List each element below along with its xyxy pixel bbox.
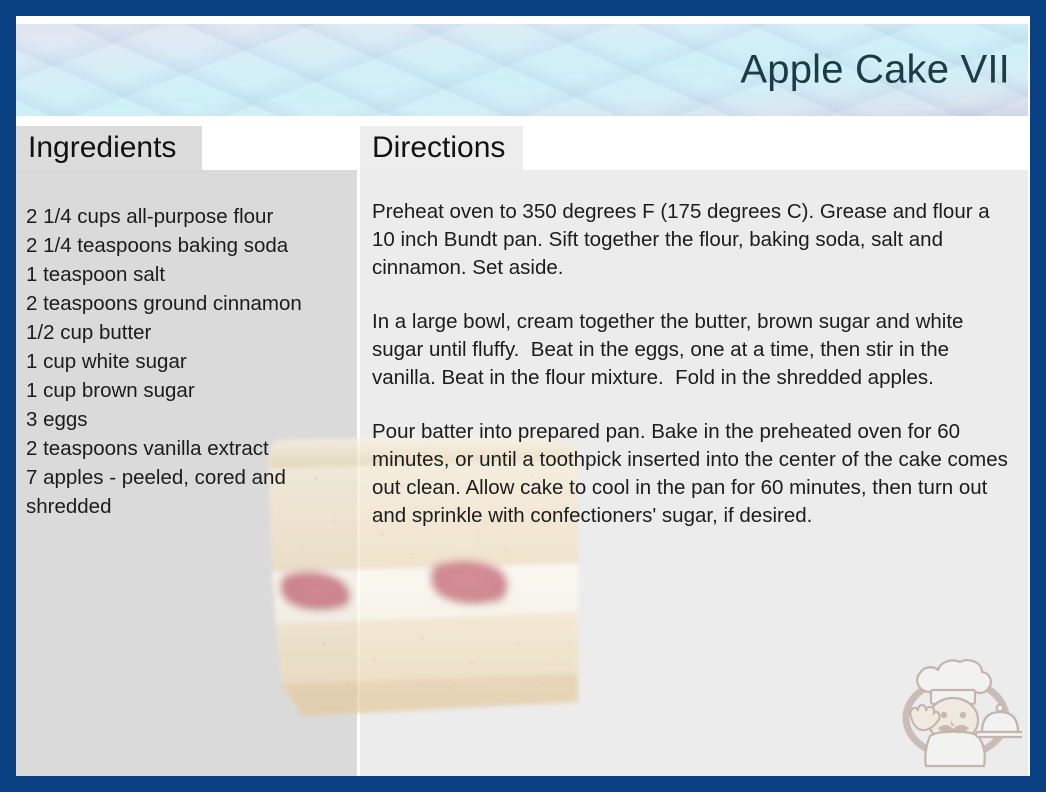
list-item: 1/2 cup butter bbox=[26, 318, 347, 347]
list-item: 1 cup white sugar bbox=[26, 347, 347, 376]
list-item: 2 teaspoons vanilla extract bbox=[26, 434, 347, 463]
list-item: 7 apples - peeled, cored and shredded bbox=[26, 463, 347, 521]
ingredients-panel: 2 1/4 cups all-purpose flour 2 1/4 teasp… bbox=[16, 170, 357, 776]
card-inner-surface: Apple Cake VII Ingredients Directions 2 … bbox=[16, 16, 1030, 776]
direction-paragraph: In a large bowl, cream together the butt… bbox=[372, 308, 1012, 392]
list-item: 2 1/4 teaspoons baking soda bbox=[26, 231, 347, 260]
ingredients-section-tab: Ingredients bbox=[16, 126, 202, 170]
list-item: 1 teaspoon salt bbox=[26, 260, 347, 289]
title-banner: Apple Cake VII bbox=[16, 24, 1028, 116]
list-item: 3 eggs bbox=[26, 405, 347, 434]
list-item: 2 1/4 cups all-purpose flour bbox=[26, 202, 347, 231]
list-item: 1 cup brown sugar bbox=[26, 376, 347, 405]
ingredients-heading: Ingredients bbox=[16, 133, 176, 163]
list-item: 2 teaspoons ground cinnamon bbox=[26, 289, 347, 318]
page-title: Apple Cake VII bbox=[740, 48, 1010, 93]
direction-paragraph: Preheat oven to 350 degrees F (175 degre… bbox=[372, 198, 1012, 282]
ingredients-list: 2 1/4 cups all-purpose flour 2 1/4 teasp… bbox=[16, 170, 357, 521]
direction-paragraph: Pour batter into prepared pan. Bake in t… bbox=[372, 418, 1012, 530]
directions-panel: Preheat oven to 350 degrees F (175 degre… bbox=[360, 170, 1028, 776]
recipe-card: Apple Cake VII Ingredients Directions 2 … bbox=[0, 0, 1046, 792]
directions-body: Preheat oven to 350 degrees F (175 degre… bbox=[360, 170, 1028, 530]
directions-section-tab: Directions bbox=[360, 126, 523, 170]
directions-heading: Directions bbox=[360, 133, 505, 163]
